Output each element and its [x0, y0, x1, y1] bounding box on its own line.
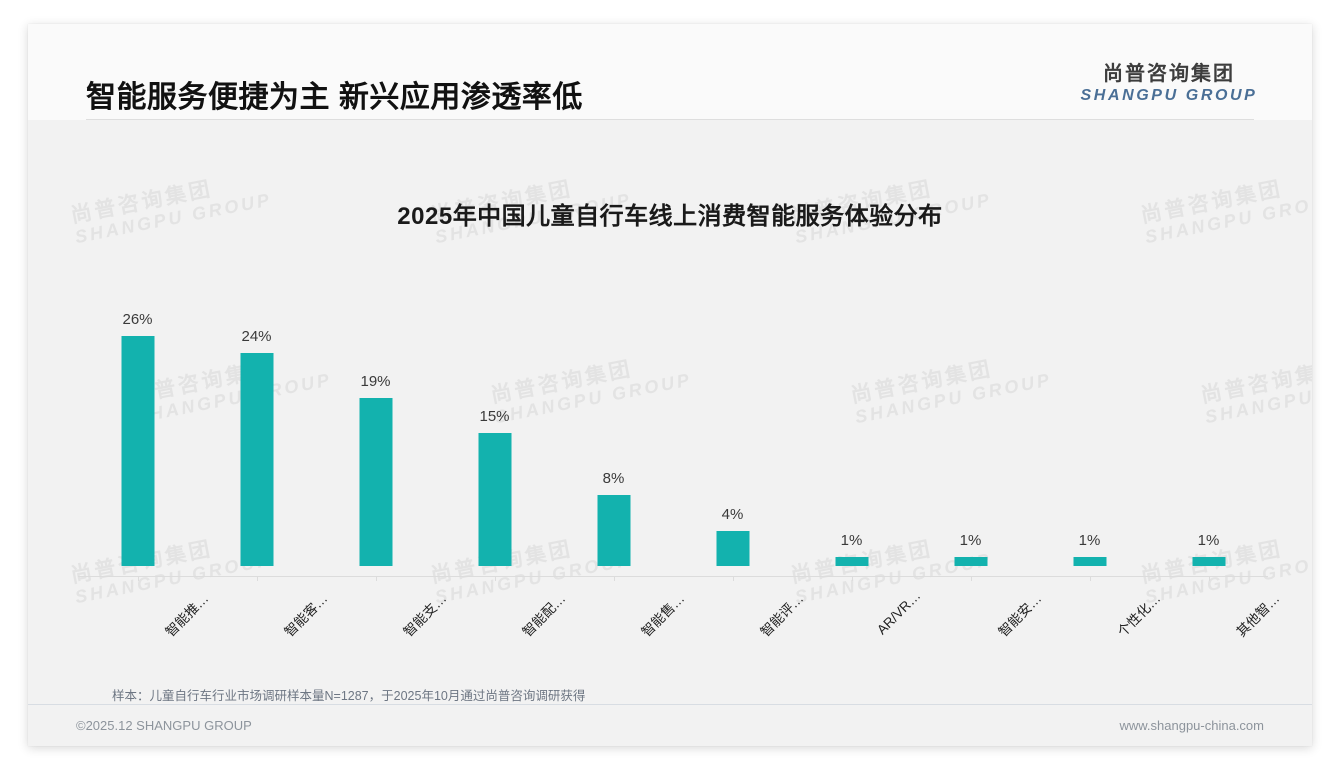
bar-column[interactable]: 1% [796, 214, 908, 566]
bar-value-label: 19% [360, 373, 390, 390]
category-label: 智能售… [635, 588, 687, 640]
category-label: 其他智… [1230, 588, 1282, 640]
bar-column[interactable]: 1% [1153, 214, 1265, 566]
axis-tick [376, 576, 377, 581]
brand-logo: 尚普咨询集团 SHANGPU GROUP [1074, 62, 1264, 106]
bar[interactable] [835, 557, 868, 566]
axis-tick [138, 576, 139, 581]
bar-value-label: 8% [603, 470, 625, 487]
category-label: 智能安… [992, 588, 1044, 640]
brand-logo-cn: 尚普咨询集团 [1074, 62, 1264, 86]
bar[interactable] [597, 495, 630, 566]
bar[interactable] [954, 557, 987, 566]
bar[interactable] [121, 336, 154, 566]
footer-website[interactable]: www.shangpu-china.com [1119, 718, 1264, 733]
slide-card: 智能服务便捷为主 新兴应用渗透率低 尚普咨询集团 SHANGPU GROUP 尚… [28, 24, 1312, 746]
axis-tick [1090, 576, 1091, 581]
bar[interactable] [359, 398, 392, 566]
bar[interactable] [716, 531, 749, 566]
sample-note: 样本：儿童自行车行业市场调研样本量N=1287，于2025年10月通过尚普咨询调… [112, 685, 585, 704]
bar-column[interactable]: 15% [439, 214, 551, 566]
bar-value-label: 1% [1079, 532, 1101, 549]
bar-column[interactable]: 19% [320, 214, 432, 566]
bar[interactable] [1073, 557, 1106, 566]
axis-tick [614, 576, 615, 581]
bar-value-label: 1% [841, 532, 863, 549]
bar-value-label: 24% [241, 328, 271, 345]
bar-column[interactable]: 4% [677, 214, 789, 566]
bar-value-label: 15% [479, 408, 509, 425]
bar[interactable] [240, 353, 273, 566]
category-label: 智能推… [159, 588, 211, 640]
slide-header: 智能服务便捷为主 新兴应用渗透率低 尚普咨询集团 SHANGPU GROUP [28, 24, 1312, 120]
bar[interactable] [478, 433, 511, 566]
bar-column[interactable]: 26% [82, 214, 194, 566]
bar-chart-plot: 26%智能推…24%智能客…19%智能支…15%智能配…8%智能售…4%智能评…… [78, 210, 1268, 580]
category-label: 个性化… [1111, 588, 1163, 640]
axis-tick [971, 576, 972, 581]
axis-tick [257, 576, 258, 581]
axis-tick [495, 576, 496, 581]
bar-value-label: 4% [722, 506, 744, 523]
axis-tick [852, 576, 853, 581]
category-label: 智能评… [754, 588, 806, 640]
bar[interactable] [1192, 557, 1225, 566]
chart-area: 尚普咨询集团SHANGPU GROUP尚普咨询集团SHANGPU GROUP尚普… [28, 120, 1312, 704]
slide-footer: ©2025.12 SHANGPU GROUP www.shangpu-china… [28, 704, 1312, 746]
axis-tick [733, 576, 734, 581]
page-title: 智能服务便捷为主 新兴应用渗透率低 [86, 72, 583, 116]
axis-tick [1209, 576, 1210, 581]
brand-logo-en: SHANGPU GROUP [1074, 86, 1264, 106]
category-label: 智能配… [516, 588, 568, 640]
bar-column[interactable]: 24% [201, 214, 313, 566]
bar-column[interactable]: 1% [915, 214, 1027, 566]
category-label: AR/VR… [874, 588, 923, 637]
category-label: 智能支… [397, 588, 449, 640]
bar-value-label: 1% [960, 532, 982, 549]
category-label: 智能客… [278, 588, 330, 640]
bar-column[interactable]: 1% [1034, 214, 1146, 566]
footer-copyright: ©2025.12 SHANGPU GROUP [76, 718, 252, 733]
bar-value-label: 1% [1198, 532, 1220, 549]
bar-value-label: 26% [122, 311, 152, 328]
bar-column[interactable]: 8% [558, 214, 670, 566]
